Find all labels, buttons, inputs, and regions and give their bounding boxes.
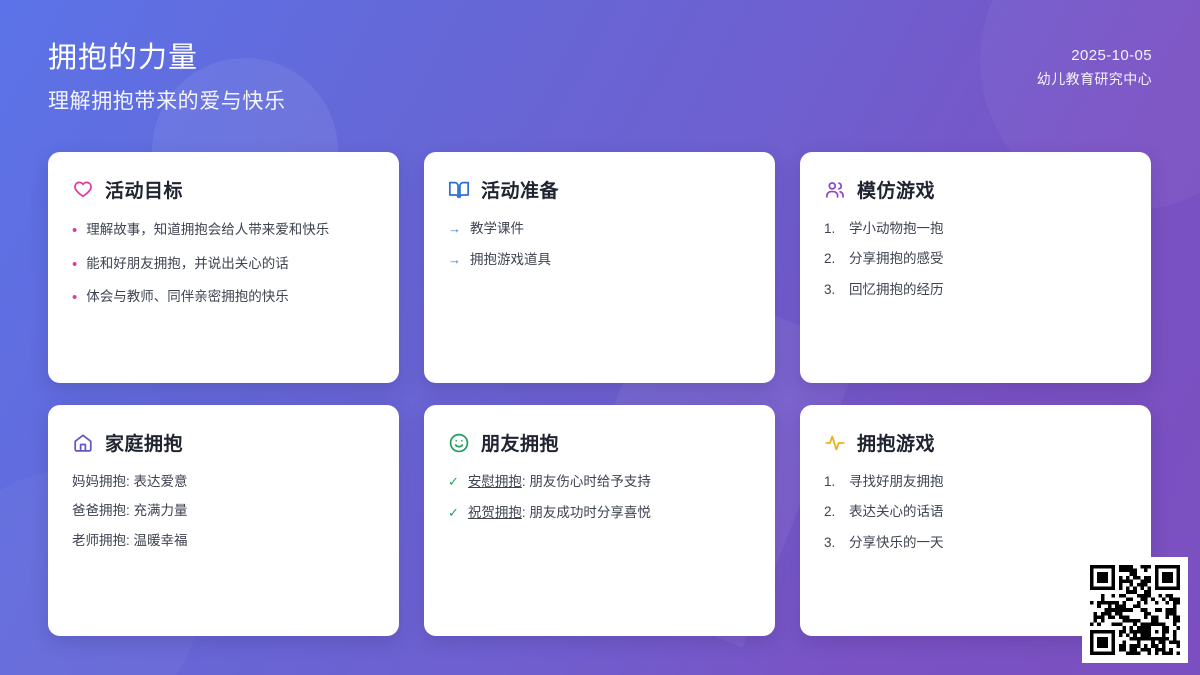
bullet-marker: •	[72, 220, 77, 243]
card-friend-hug[interactable]: 朋友拥抱 ✓ 安慰拥抱: 朋友伤心时给予支持 ✓ 祝贺拥抱: 朋友成功时分享喜悦	[424, 405, 775, 636]
title-block: 拥抱的力量 理解拥抱带来的爱与快乐	[48, 40, 286, 115]
list-item-text: 表达关心的话语	[849, 502, 944, 522]
slide-root: 拥抱的力量 理解拥抱带来的爱与快乐 2025-10-05 幼儿教育研究中心 活动…	[0, 0, 1200, 675]
card-title: 拥抱游戏	[857, 429, 935, 456]
list-item: 1. 寻找好朋友拥抱	[824, 472, 1127, 492]
card-body: • 理解故事，知道拥抱会给人带来爱和快乐 • 能和好朋友拥抱，并说出关心的话 •…	[72, 219, 375, 309]
list-item-text: 分享拥抱的感受	[849, 249, 944, 269]
card-header: 朋友拥抱	[448, 429, 751, 456]
list-item: 1. 学小动物抱一抱	[824, 219, 1127, 239]
card-activity-goals[interactable]: 活动目标 • 理解故事，知道拥抱会给人带来爱和快乐 • 能和好朋友拥抱，并说出关…	[48, 152, 399, 383]
smiley-icon	[448, 432, 470, 454]
list-number: 1.	[824, 219, 840, 239]
card-title: 模仿游戏	[857, 176, 935, 203]
list-number: 2.	[824, 249, 840, 269]
card-header: 家庭拥抱	[72, 429, 375, 456]
heart-icon	[72, 179, 94, 201]
arrow-marker: →	[448, 219, 461, 239]
card-title: 朋友拥抱	[481, 429, 559, 456]
list-item: 老师拥抱: 温暖幸福	[72, 531, 375, 551]
arrow-list: → 教学课件 → 拥抱游戏道具	[448, 219, 751, 271]
users-icon	[824, 179, 846, 201]
list-item: 3. 回忆拥抱的经历	[824, 280, 1127, 300]
check-marker: ✓	[448, 503, 459, 523]
list-item-text: 能和好朋友拥抱，并说出关心的话	[86, 254, 289, 274]
card-header: 活动准备	[448, 176, 751, 203]
term-label: 安慰拥抱	[468, 474, 522, 489]
list-item-text: 祝贺拥抱: 朋友成功时分享喜悦	[468, 503, 651, 523]
card-body: 1. 学小动物抱一抱 2. 分享拥抱的感受 3. 回忆拥抱的经历	[824, 219, 1127, 300]
list-number: 1.	[824, 472, 840, 492]
card-title: 活动目标	[105, 176, 183, 203]
header-meta: 2025-10-05 幼儿教育研究中心	[1037, 40, 1152, 90]
list-item: → 拥抱游戏道具	[448, 250, 751, 270]
numbered-list: 1. 寻找好朋友拥抱 2. 表达关心的话语 3. 分享快乐的一天	[824, 472, 1127, 553]
list-number: 3.	[824, 280, 840, 300]
card-header: 模仿游戏	[824, 176, 1127, 203]
book-icon	[448, 179, 470, 201]
numbered-list: 1. 学小动物抱一抱 2. 分享拥抱的感受 3. 回忆拥抱的经历	[824, 219, 1127, 300]
list-item: 妈妈拥抱: 表达爱意	[72, 472, 375, 492]
list-item: ✓ 安慰拥抱: 朋友伤心时给予支持	[448, 472, 751, 492]
list-item-text: 学小动物抱一抱	[849, 219, 944, 239]
home-icon	[72, 432, 94, 454]
list-item-text: 体会与教师、同伴亲密拥抱的快乐	[86, 287, 289, 307]
bullet-marker: •	[72, 287, 77, 310]
list-item-text: 寻找好朋友拥抱	[849, 472, 944, 492]
term-description: : 朋友成功时分享喜悦	[522, 505, 651, 520]
card-body: 妈妈拥抱: 表达爱意 爸爸拥抱: 充满力量 老师拥抱: 温暖幸福	[72, 472, 375, 551]
list-item-text: 理解故事，知道拥抱会给人带来爱和快乐	[86, 220, 329, 240]
list-item: ✓ 祝贺拥抱: 朋友成功时分享喜悦	[448, 503, 751, 523]
list-item: • 理解故事，知道拥抱会给人带来爱和快乐	[72, 219, 375, 242]
card-family-hug[interactable]: 家庭拥抱 妈妈拥抱: 表达爱意 爸爸拥抱: 充满力量 老师拥抱: 温暖幸福	[48, 405, 399, 636]
list-item-text: 回忆拥抱的经历	[849, 280, 944, 300]
card-title: 活动准备	[481, 176, 559, 203]
list-item: → 教学课件	[448, 219, 751, 239]
bullet-marker: •	[72, 254, 77, 277]
check-marker: ✓	[448, 472, 459, 492]
plain-list: 妈妈拥抱: 表达爱意 爸爸拥抱: 充满力量 老师拥抱: 温暖幸福	[72, 472, 375, 551]
card-activity-preparation[interactable]: 活动准备 → 教学课件 → 拥抱游戏道具	[424, 152, 775, 383]
list-number: 2.	[824, 502, 840, 522]
page-subtitle: 理解拥抱带来的爱与快乐	[48, 85, 286, 115]
list-number: 3.	[824, 533, 840, 553]
list-item-text: 安慰拥抱: 朋友伤心时给予支持	[468, 472, 651, 492]
card-imitation-game[interactable]: 模仿游戏 1. 学小动物抱一抱 2. 分享拥抱的感受 3. 回忆拥抱的经历	[800, 152, 1151, 383]
list-item-text: 分享快乐的一天	[849, 533, 944, 553]
list-item: 3. 分享快乐的一天	[824, 533, 1127, 553]
term-description: : 朋友伤心时给予支持	[522, 474, 651, 489]
slide-header: 拥抱的力量 理解拥抱带来的爱与快乐 2025-10-05 幼儿教育研究中心	[48, 40, 1152, 115]
term-label: 祝贺拥抱	[468, 505, 522, 520]
qr-code[interactable]	[1082, 557, 1188, 663]
list-item: • 能和好朋友拥抱，并说出关心的话	[72, 253, 375, 276]
list-item-text: 拥抱游戏道具	[470, 250, 551, 270]
date-label: 2025-10-05	[1037, 44, 1152, 68]
page-title: 拥抱的力量	[48, 40, 286, 76]
arrow-marker: →	[448, 250, 461, 270]
check-list: ✓ 安慰拥抱: 朋友伤心时给予支持 ✓ 祝贺拥抱: 朋友成功时分享喜悦	[448, 472, 751, 524]
card-header: 拥抱游戏	[824, 429, 1127, 456]
card-body: → 教学课件 → 拥抱游戏道具	[448, 219, 751, 271]
list-item: 2. 分享拥抱的感受	[824, 249, 1127, 269]
list-item: 爸爸拥抱: 充满力量	[72, 501, 375, 521]
organization-label: 幼儿教育研究中心	[1037, 68, 1152, 90]
list-item-text: 教学课件	[470, 219, 524, 239]
card-body: ✓ 安慰拥抱: 朋友伤心时给予支持 ✓ 祝贺拥抱: 朋友成功时分享喜悦	[448, 472, 751, 524]
bullet-list: • 理解故事，知道拥抱会给人带来爱和快乐 • 能和好朋友拥抱，并说出关心的话 •…	[72, 219, 375, 309]
card-grid: 活动目标 • 理解故事，知道拥抱会给人带来爱和快乐 • 能和好朋友拥抱，并说出关…	[48, 152, 1152, 636]
list-item: • 体会与教师、同伴亲密拥抱的快乐	[72, 286, 375, 309]
card-body: 1. 寻找好朋友拥抱 2. 表达关心的话语 3. 分享快乐的一天	[824, 472, 1127, 553]
card-header: 活动目标	[72, 176, 375, 203]
activity-pulse-icon	[824, 432, 846, 454]
list-item: 2. 表达关心的话语	[824, 502, 1127, 522]
card-title: 家庭拥抱	[105, 429, 183, 456]
qr-code-image	[1090, 565, 1180, 655]
